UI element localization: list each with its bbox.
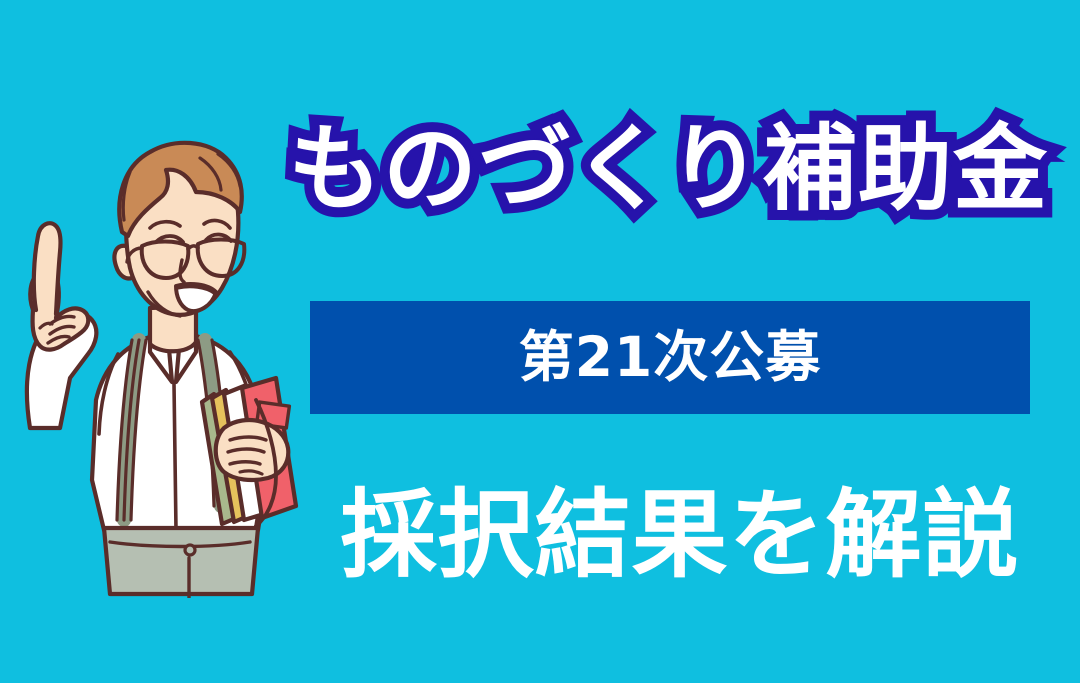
subtitle-text: 採択結果を解説: [341, 487, 1020, 583]
trousers: [104, 528, 258, 598]
head: [114, 143, 244, 351]
koubo-banner: 第21次公募: [310, 301, 1030, 414]
koubo-banner-text: 第21次公募: [519, 330, 822, 385]
pointing-hand: [30, 223, 88, 349]
character-illustration: [0, 128, 330, 598]
main-title: ものづくり補助金: [288, 100, 1048, 240]
main-title-text: ものづくり補助金: [288, 123, 1048, 217]
subtitle: 採択結果を解説: [330, 472, 1030, 598]
thumbnail-canvas: ものづくり補助金 第21次公募 採択結果を解説: [0, 0, 1080, 683]
